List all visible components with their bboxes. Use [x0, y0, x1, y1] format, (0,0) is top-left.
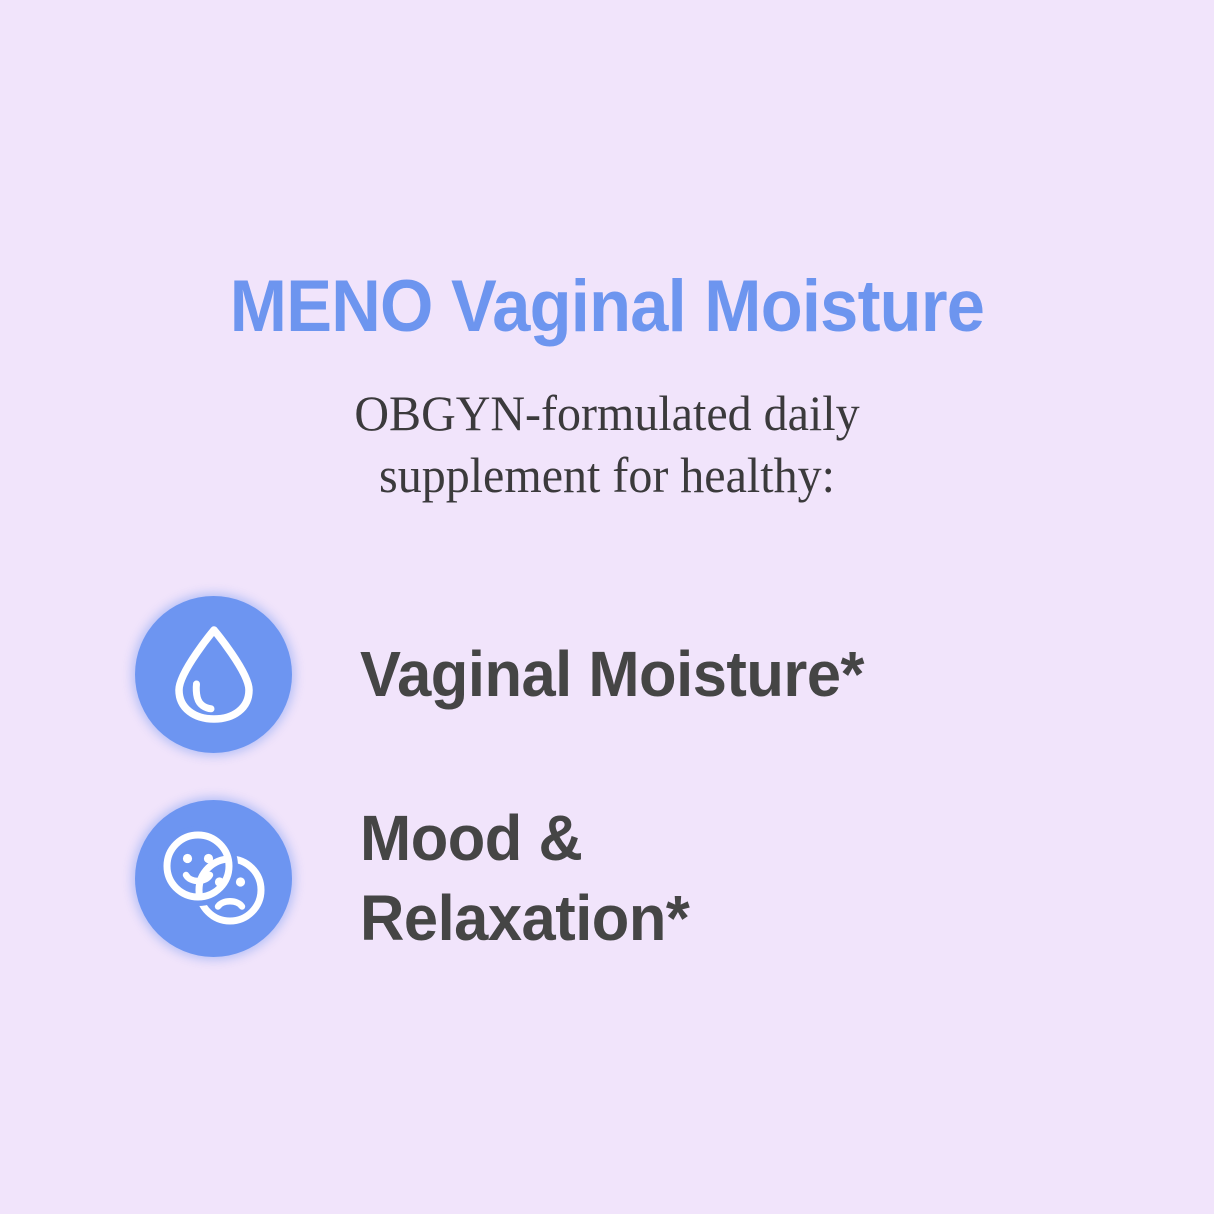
water-droplet-icon — [171, 624, 257, 724]
mood-faces-icon — [160, 830, 268, 926]
benefit-label: Vaginal Moisture* — [360, 636, 864, 712]
benefit-row: Vaginal Moisture* — [0, 572, 1214, 776]
benefit-label: Mood & Relaxation* — [360, 798, 689, 958]
benefit-icon-badge — [135, 596, 292, 753]
benefit-row: Mood & Relaxation* — [0, 776, 1214, 980]
subtitle-line-1: OBGYN-formulated daily — [24, 382, 1189, 444]
benefit-icon-badge — [135, 800, 292, 957]
product-benefits-graphic: MENO Vaginal Moisture OBGYN-formulated d… — [0, 0, 1214, 1214]
page-subtitle: OBGYN-formulated daily supplement for he… — [0, 382, 1214, 506]
benefits-list: Vaginal Moisture* — [0, 572, 1214, 980]
subtitle-line-2: supplement for healthy: — [24, 444, 1189, 506]
page-title: MENO Vaginal Moisture — [36, 268, 1177, 346]
